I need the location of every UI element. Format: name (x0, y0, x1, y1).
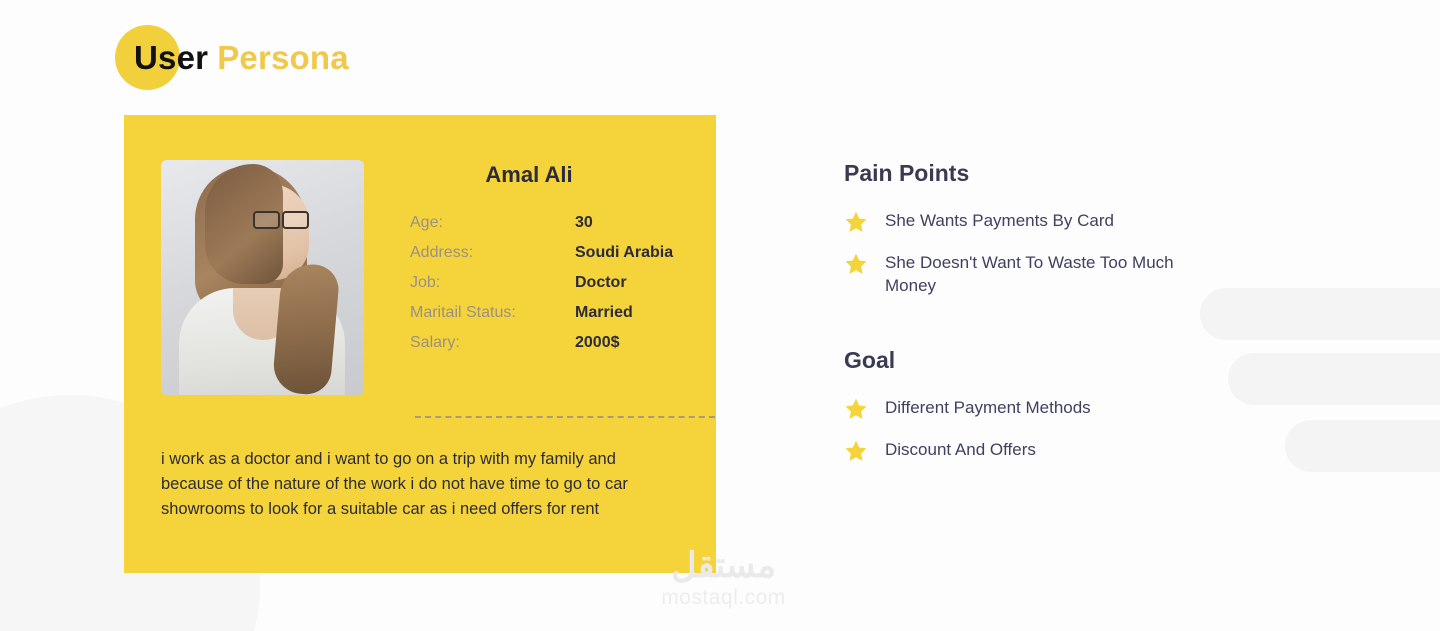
info-label-age: Age: (410, 214, 575, 232)
persona-name: Amal Ali (410, 162, 648, 188)
pain-points-list: She Wants Payments By Card She Doesn't W… (844, 209, 1244, 297)
dashed-divider (415, 416, 715, 418)
pain-points-title: Pain Points (844, 160, 1244, 187)
info-value-address: Soudi Arabia (575, 244, 678, 262)
persona-bio: i work as a doctor and i want to go on a… (161, 447, 678, 522)
persona-photo (161, 160, 364, 395)
info-value-age: 30 (575, 214, 678, 232)
background-bar-shape-3 (1285, 420, 1440, 472)
list-item: Discount And Offers (844, 438, 1244, 463)
page-title-primary: User (134, 39, 208, 76)
star-icon (844, 397, 868, 421)
goal-title: Goal (844, 347, 1244, 374)
background-bar-shape-2 (1228, 353, 1440, 405)
goal-list: Different Payment Methods Discount And O… (844, 396, 1244, 463)
info-label-address: Address: (410, 244, 575, 262)
info-value-salary: 2000$ (575, 334, 678, 352)
goal-section: Goal Different Payment Methods Discount … (844, 347, 1244, 463)
info-value-marital-status: Married (575, 304, 678, 322)
star-icon (844, 210, 868, 234)
persona-card: Amal Ali Age: 30 Address: Soudi Arabia J… (124, 115, 716, 573)
watermark-latin: mostaql.com (636, 586, 811, 610)
page-header: UserPersona (115, 25, 349, 91)
page-title: UserPersona (134, 39, 349, 77)
list-item-label: Discount And Offers (885, 438, 1036, 461)
info-label-salary: Salary: (410, 334, 575, 352)
persona-info-grid: Age: 30 Address: Soudi Arabia Job: Docto… (410, 214, 678, 352)
star-icon (844, 439, 868, 463)
page-title-accent: Persona (217, 39, 349, 76)
info-label-marital-status: Maritail Status: (410, 304, 575, 322)
persona-card-top: Amal Ali Age: 30 Address: Soudi Arabia J… (161, 160, 678, 395)
list-item: She Wants Payments By Card (844, 209, 1244, 234)
persona-info: Amal Ali Age: 30 Address: Soudi Arabia J… (364, 160, 678, 352)
list-item-label: She Doesn't Want To Waste Too Much Money (885, 251, 1175, 297)
list-item: Different Payment Methods (844, 396, 1244, 421)
star-icon (844, 252, 868, 276)
right-column: Pain Points She Wants Payments By Card S… (844, 160, 1244, 480)
list-item-label: She Wants Payments By Card (885, 209, 1114, 232)
info-label-job: Job: (410, 274, 575, 292)
list-item-label: Different Payment Methods (885, 396, 1091, 419)
info-value-job: Doctor (575, 274, 678, 292)
pain-points-section: Pain Points She Wants Payments By Card S… (844, 160, 1244, 297)
photo-glasses (253, 211, 309, 226)
list-item: She Doesn't Want To Waste Too Much Money (844, 251, 1244, 297)
